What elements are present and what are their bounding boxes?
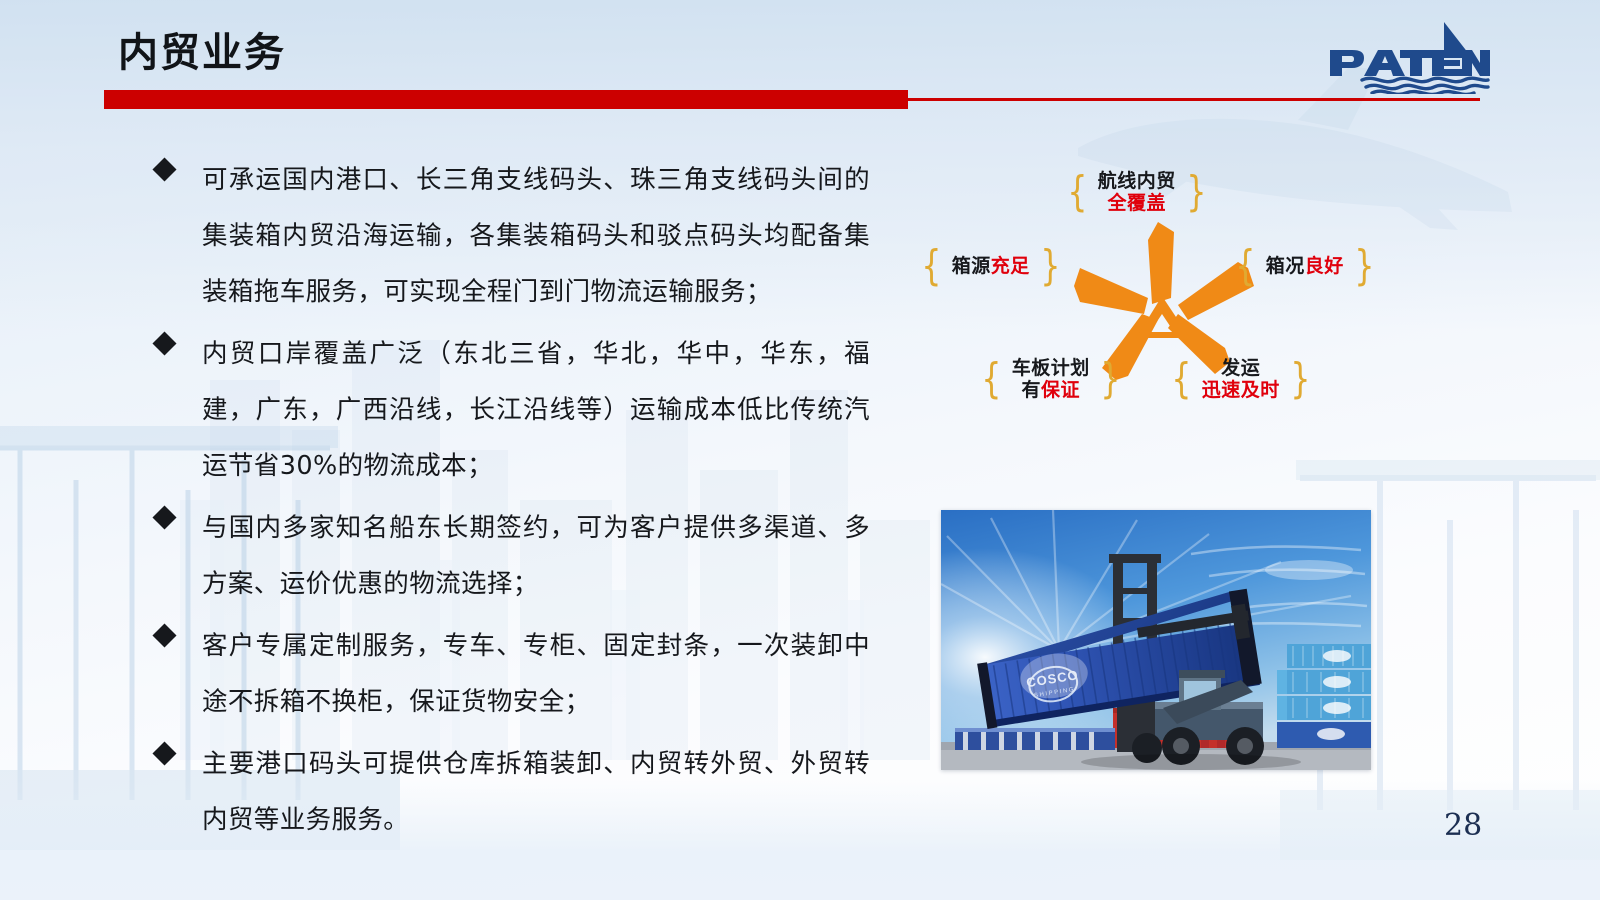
- list-item-text: 可承运国内港口、长三角支线码头、珠三角支线码头间的集装箱内贸沿海运输，各集装箱码…: [202, 152, 870, 320]
- advantages-star-diagram: { 航线内贸 全覆盖 } { 箱源充足 } { 箱况良好 } {: [930, 150, 1430, 450]
- diamond-bullet-icon: [152, 157, 176, 181]
- brace-left-icon: {: [921, 245, 941, 287]
- brace-right-icon: }: [1100, 358, 1120, 400]
- list-item-text: 主要港口码头可提供仓库拆箱装卸、内贸转外贸、外贸转内贸等业务服务。: [202, 736, 870, 848]
- star-label-bottom-left: { 车板计划 有保证 }: [978, 357, 1123, 402]
- title-accent-line: [908, 98, 1480, 101]
- list-item-text: 与国内多家知名船东长期签约，可为客户提供多渠道、多方案、运价优惠的物流选择；: [202, 500, 870, 612]
- diamond-bullet-icon: [152, 331, 176, 355]
- list-item: 客户专属定制服务，专车、专柜、固定封条，一次装卸中途不拆箱不换柜，保证货物安全；: [150, 618, 870, 730]
- bullet-list: 可承运国内港口、长三角支线码头、珠三角支线码头间的集装箱内贸沿海运输，各集装箱码…: [150, 152, 870, 854]
- diamond-bullet-icon: [152, 623, 176, 647]
- brace-left-icon: {: [1067, 171, 1087, 213]
- brace-right-icon: }: [1186, 171, 1206, 213]
- list-item-text: 客户专属定制服务，专车、专柜、固定封条，一次装卸中途不拆箱不换柜，保证货物安全；: [202, 618, 870, 730]
- page-title: 内贸业务: [118, 33, 286, 73]
- star-label-top: { 航线内贸 全覆盖 }: [1064, 170, 1209, 215]
- page-number: 28: [1444, 808, 1482, 843]
- diamond-bullet-icon: [152, 505, 176, 529]
- star-label-line1: 箱源充足: [952, 255, 1030, 277]
- list-item: 主要港口码头可提供仓库拆箱装卸、内贸转外贸、外贸转内贸等业务服务。: [150, 736, 870, 848]
- diamond-bullet-icon: [152, 741, 176, 765]
- star-label-line1: 车板计划: [1012, 357, 1090, 379]
- list-item: 可承运国内港口、长三角支线码头、珠三角支线码头间的集装箱内贸沿海运输，各集装箱码…: [150, 152, 870, 320]
- title-accent-bar: [104, 90, 908, 109]
- list-item: 与国内多家知名船东长期签约，可为客户提供多渠道、多方案、运价优惠的物流选择；: [150, 500, 870, 612]
- list-item: 内贸口岸覆盖广泛（东北三省，华北，华中，华东，福建，广东，广西沿线，长江沿线等）…: [150, 326, 870, 494]
- container-terminal-photo: COSCO SHIPPING: [941, 510, 1371, 770]
- star-label-line2: 迅速及时: [1202, 379, 1280, 401]
- patent-logo: [1322, 18, 1490, 94]
- brace-left-icon: {: [981, 358, 1001, 400]
- brace-left-icon: {: [1171, 358, 1191, 400]
- slide-root: 内贸业务 可承运国内港口、长三角支线码头、珠三角支线码头间的集装箱内贸沿海运输，…: [0, 0, 1600, 900]
- star-label-left: { 箱源充足 }: [918, 245, 1064, 287]
- list-item-text: 内贸口岸覆盖广泛（东北三省，华北，华中，华东，福建，广东，广西沿线，长江沿线等）…: [202, 326, 870, 494]
- star-label-right: { 箱况良好 }: [1232, 245, 1378, 287]
- star-label-line2: 全覆盖: [1107, 192, 1166, 214]
- star-label-line1: 箱况良好: [1266, 255, 1344, 277]
- brace-right-icon: }: [1290, 358, 1310, 400]
- brace-left-icon: {: [1235, 245, 1255, 287]
- brace-right-icon: }: [1040, 245, 1060, 287]
- star-label-line1: 发运: [1221, 357, 1260, 379]
- star-label-bottom-right: { 发运 迅速及时 }: [1168, 357, 1313, 402]
- brace-right-icon: }: [1354, 245, 1374, 287]
- star-label-line2: 有保证: [1021, 379, 1080, 401]
- star-label-line1: 航线内贸: [1098, 170, 1176, 192]
